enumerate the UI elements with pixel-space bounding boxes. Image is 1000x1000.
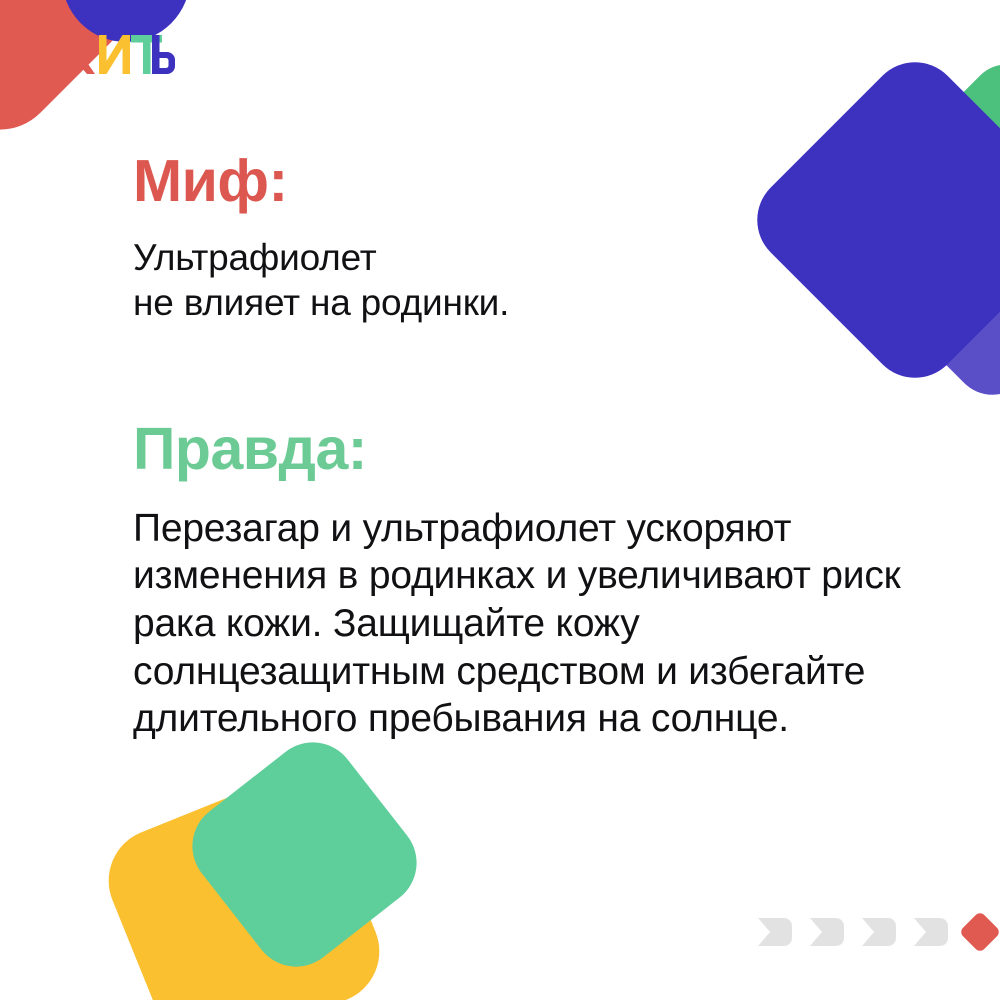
logo-letter-i: [99, 35, 130, 74]
pager-chevron-left-4[interactable]: [904, 908, 952, 956]
myth-body-text: Ультрафиолет не влияет на родинки.: [133, 235, 933, 327]
slide-canvas: Миф: Ультрафиолет не влияет на родинки. …: [0, 0, 1000, 1000]
logo-letter-zhe: [53, 35, 95, 74]
pager-chevron-left-1[interactable]: [748, 908, 796, 956]
pager-diamond-active[interactable]: [956, 908, 1000, 956]
logo-letter-soft-sign: [152, 35, 175, 74]
pager[interactable]: [748, 908, 1000, 956]
myth-heading: Миф:: [133, 150, 933, 213]
truth-section: Правда: Перезагар и ультрафиолет ускоряю…: [133, 418, 933, 742]
pager-chevron-left-2[interactable]: [800, 908, 848, 956]
pager-chevron-left-3[interactable]: [852, 908, 900, 956]
truth-body-text: Перезагар и ультрафиолет ускоряют измене…: [133, 505, 933, 743]
brand-logo[interactable]: [53, 28, 175, 74]
content-block: Миф: Ультрафиолет не влияет на родинки. …: [133, 150, 933, 743]
truth-heading: Правда:: [133, 418, 933, 481]
